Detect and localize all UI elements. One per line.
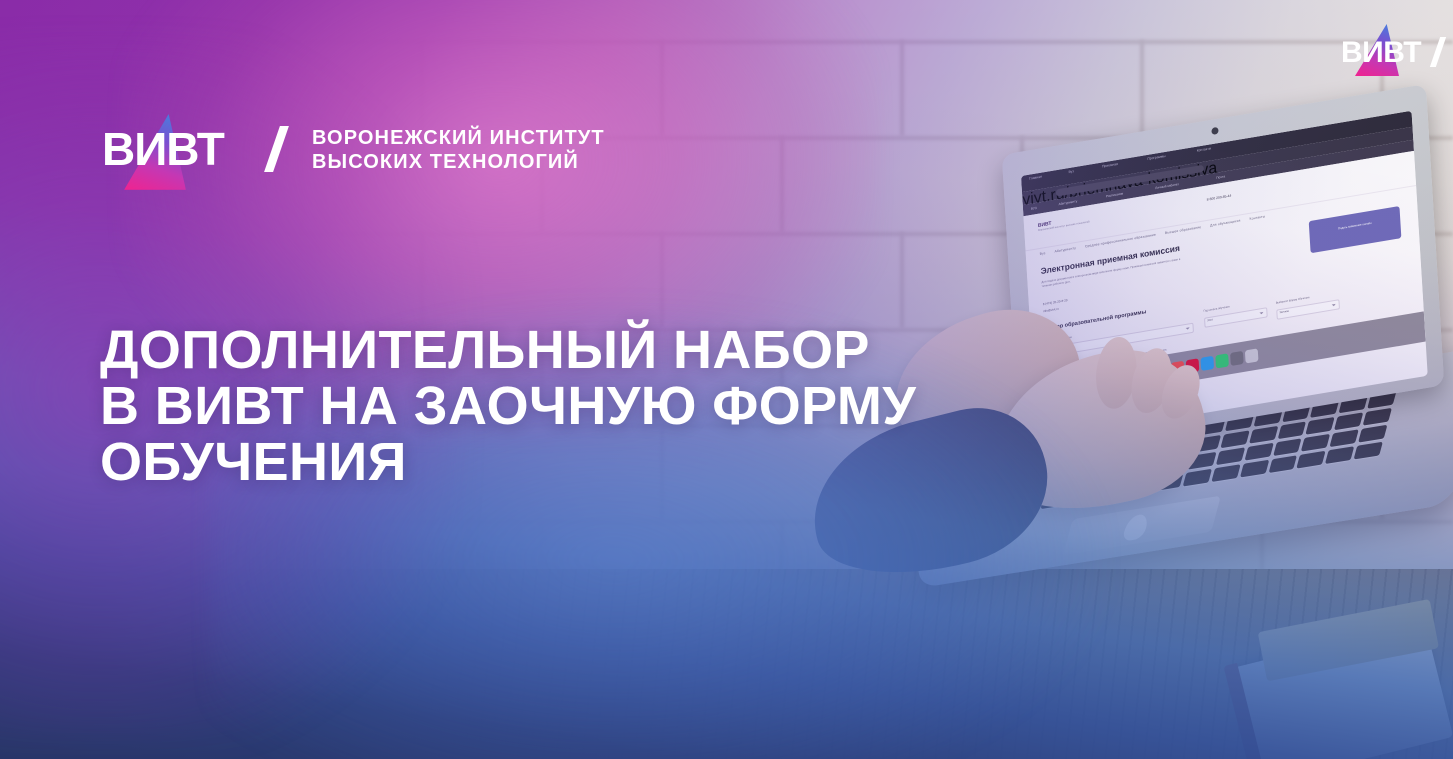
corner-watermark-logo: ВИВТ <box>1333 20 1453 76</box>
promo-banner: Главная Вуз Приемная Программы Контакты … <box>0 0 1453 759</box>
logo-slash-icon <box>262 124 292 174</box>
corner-logo-wordmark: ВИВТ <box>1341 36 1421 70</box>
corner-logo-slash-icon <box>1429 36 1451 68</box>
brand-logo[interactable]: ВИВТ ВОРОНЕЖСКИЙ ИНСТИТУТ ВЫСОКИХ ТЕХНОЛ… <box>102 108 605 192</box>
brand-tagline: ВОРОНЕЖСКИЙ ИНСТИТУТ ВЫСОКИХ ТЕХНОЛОГИЙ <box>312 126 605 174</box>
page-title: ДОПОЛНИТЕЛЬНЫЙ НАБОР В ВИВТ НА ЗАОЧНУЮ Ф… <box>100 322 916 490</box>
logo-mark: ВИВТ <box>102 108 298 192</box>
banner-content: ВИВТ ВОРОНЕЖСКИЙ ИНСТИТУТ ВЫСОКИХ ТЕХНОЛ… <box>0 0 1453 759</box>
